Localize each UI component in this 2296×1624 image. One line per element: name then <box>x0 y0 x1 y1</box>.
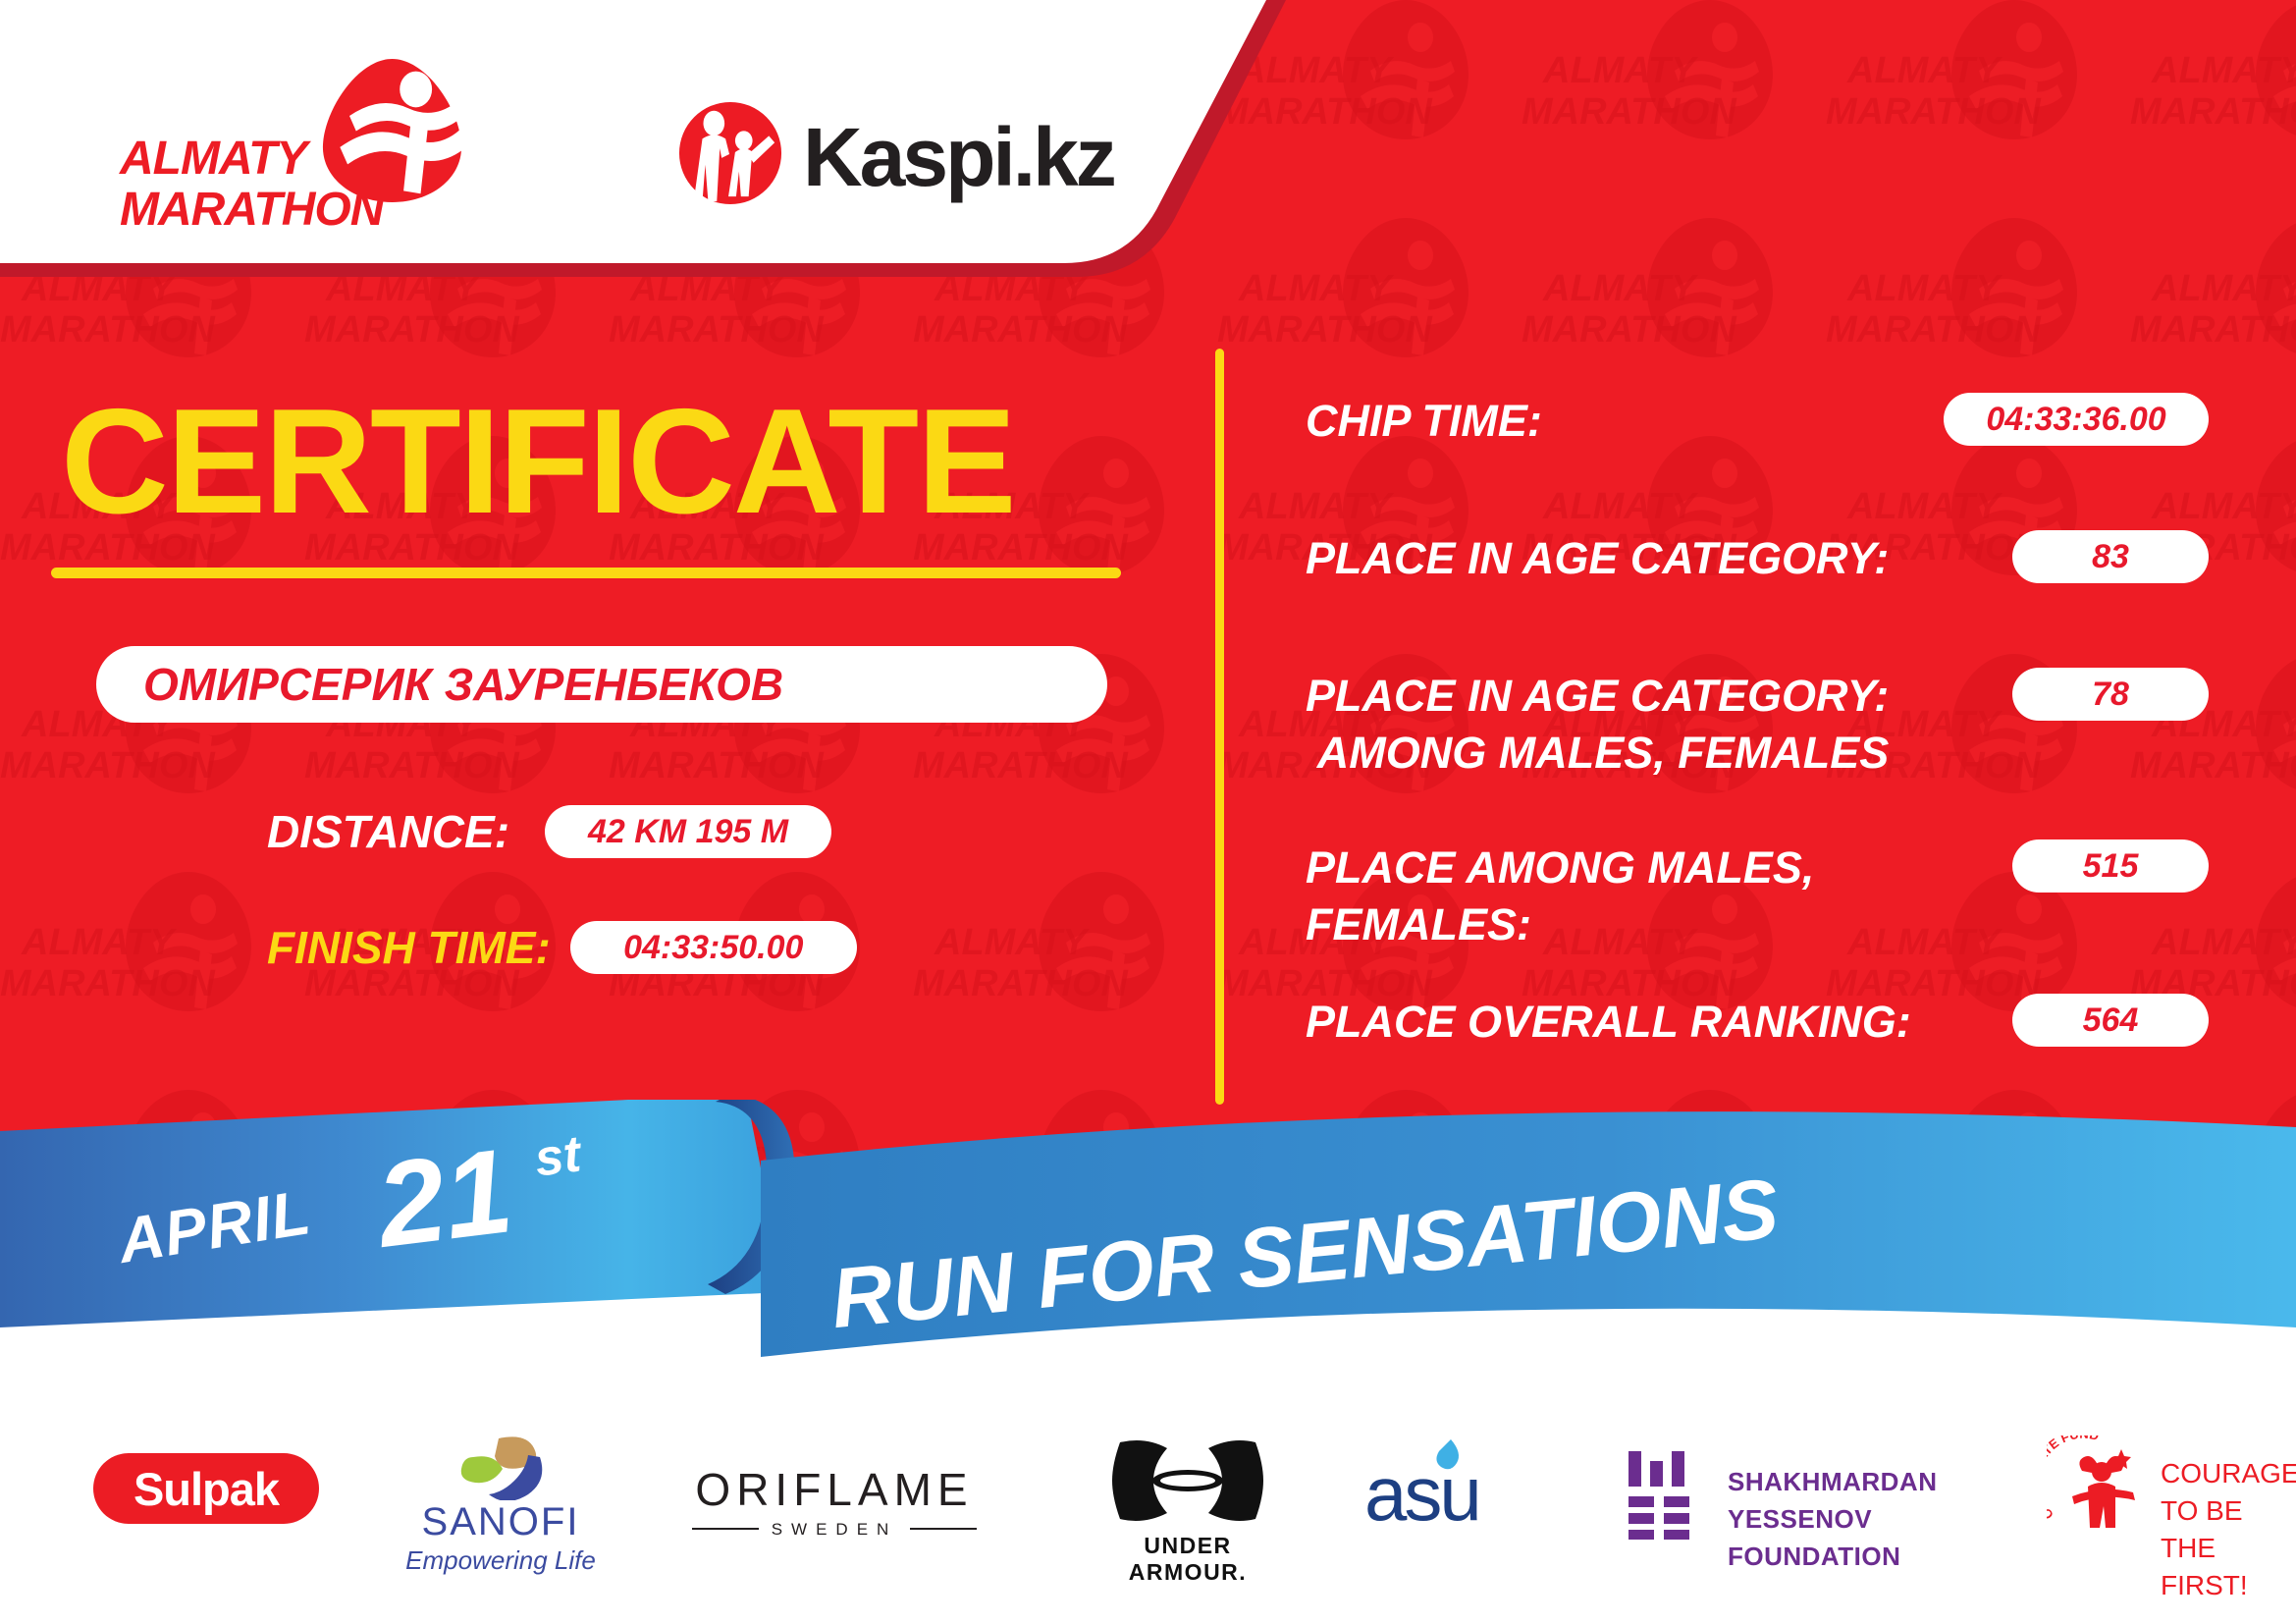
sponsor-sanofi-tagline: Empowering Life <box>393 1545 609 1576</box>
distance-value: 42 KM 195 M <box>545 805 831 858</box>
under-armour-icon <box>1112 1438 1263 1523</box>
place-overall-row: PLACE OVERALL RANKING: 564 <box>1306 994 2209 1051</box>
place-overall-value: 564 <box>2012 994 2209 1047</box>
kaspi-people-icon <box>677 100 783 206</box>
sponsor-yessenov-label: SHAKHMARDAN YESSENOV FOUNDATION <box>1728 1463 1978 1575</box>
sponsor-yessenov-foundation: SHAKHMARDAN YESSENOV FOUNDATION <box>1625 1443 1978 1551</box>
finish-time-label: FINISH TIME: <box>267 921 551 974</box>
place-age-category-gender-row: PLACE IN AGE CATEGORY: AMONG MALES, FEMA… <box>1306 668 2209 782</box>
place-overall-label: PLACE OVERALL RANKING: <box>1306 994 1911 1051</box>
oriflame-rule-right <box>910 1528 977 1530</box>
place-age-category-row: PLACE IN AGE CATEGORY: 83 <box>1306 530 2209 587</box>
place-age-category-label: PLACE IN AGE CATEGORY: <box>1306 530 1889 587</box>
sponsor-under-armour-label: UNDER ARMOUR. <box>1085 1533 1291 1586</box>
sanofi-mark-icon <box>454 1435 548 1500</box>
place-age-category-gender-value: 78 <box>2012 668 2209 721</box>
place-among-gender-label: PLACE AMONG MALES, FEMALES: <box>1306 839 1814 953</box>
participant-name-pill: ОМИРСЕРИК ЗАУРЕНБЕКОВ <box>96 646 1107 723</box>
runner-teardrop-icon <box>321 57 463 204</box>
sponsor-sanofi: SANOFI Empowering Life <box>393 1435 609 1563</box>
sponsor-oriflame: ORIFLAME SWEDEN <box>692 1463 977 1551</box>
kaspi-wordmark: Kaspi.kz <box>803 110 1114 205</box>
almaty-marathon-logo: ALMATY MARATHON <box>120 57 463 248</box>
participant-name: ОМИРСЕРИК ЗАУРЕНБЕКОВ <box>96 658 783 711</box>
sponsor-oriflame-tagline: SWEDEN <box>692 1520 977 1540</box>
vertical-divider <box>1215 349 1224 1105</box>
sponsor-oriflame-label: ORIFLAME <box>692 1463 977 1516</box>
sponsor-courage-fund: CORPORATE FUND COURAGE TO BE THE FIRST! <box>2047 1435 2292 1563</box>
ribbon-day-suffix: st <box>532 1124 584 1188</box>
place-age-category-gender-label: PLACE IN AGE CATEGORY: AMONG MALES, FEMA… <box>1306 668 1889 782</box>
chip-time-label: CHIP TIME: <box>1306 393 1542 450</box>
oriflame-rule-left <box>692 1528 759 1530</box>
ribbon-day: 21 <box>370 1121 519 1273</box>
finish-time-value: 04:33:50.00 <box>570 921 857 974</box>
title-underline <box>51 568 1121 578</box>
courage-fund-icon: CORPORATE FUND <box>2047 1435 2155 1543</box>
place-among-gender-row: PLACE AMONG MALES, FEMALES: 515 <box>1306 839 2209 953</box>
place-among-gender-value: 515 <box>2012 839 2209 893</box>
sponsor-sanofi-label: SANOFI <box>393 1500 609 1544</box>
distance-label: DISTANCE: <box>267 805 509 858</box>
place-age-category-value: 83 <box>2012 530 2209 583</box>
chip-time-value: 04:33:36.00 <box>1944 393 2209 446</box>
certificate-page: ALMATY MARATHON ALMATY MARATHON <box>0 0 2296 1624</box>
chip-time-row: CHIP TIME: 04:33:36.00 <box>1306 393 2209 450</box>
header-logos: ALMATY MARATHON <box>0 0 1178 265</box>
asu-droplet-icon <box>1429 1437 1463 1475</box>
red-body-panel: ALMATY MARATHON ALMATY MARATHON <box>0 0 2296 1231</box>
page-title: CERTIFICATE <box>61 383 1141 540</box>
sponsor-under-armour: UNDER ARMOUR. <box>1085 1438 1291 1566</box>
sponsor-courage-fund-tagline: COURAGE TO BE THE FIRST! <box>2161 1455 2296 1604</box>
finish-time-row: FINISH TIME: 04:33:50.00 <box>267 921 857 974</box>
sponsor-asu: asu <box>1364 1443 1551 1551</box>
sponsor-sulpak-label: Sulpak <box>133 1462 279 1516</box>
sponsor-sulpak: Sulpak <box>93 1453 319 1524</box>
distance-row: DISTANCE: 42 KM 195 M <box>267 805 831 858</box>
kaspi-logo: Kaspi.kz <box>677 96 1090 224</box>
yessenov-bars-icon <box>1625 1449 1703 1540</box>
